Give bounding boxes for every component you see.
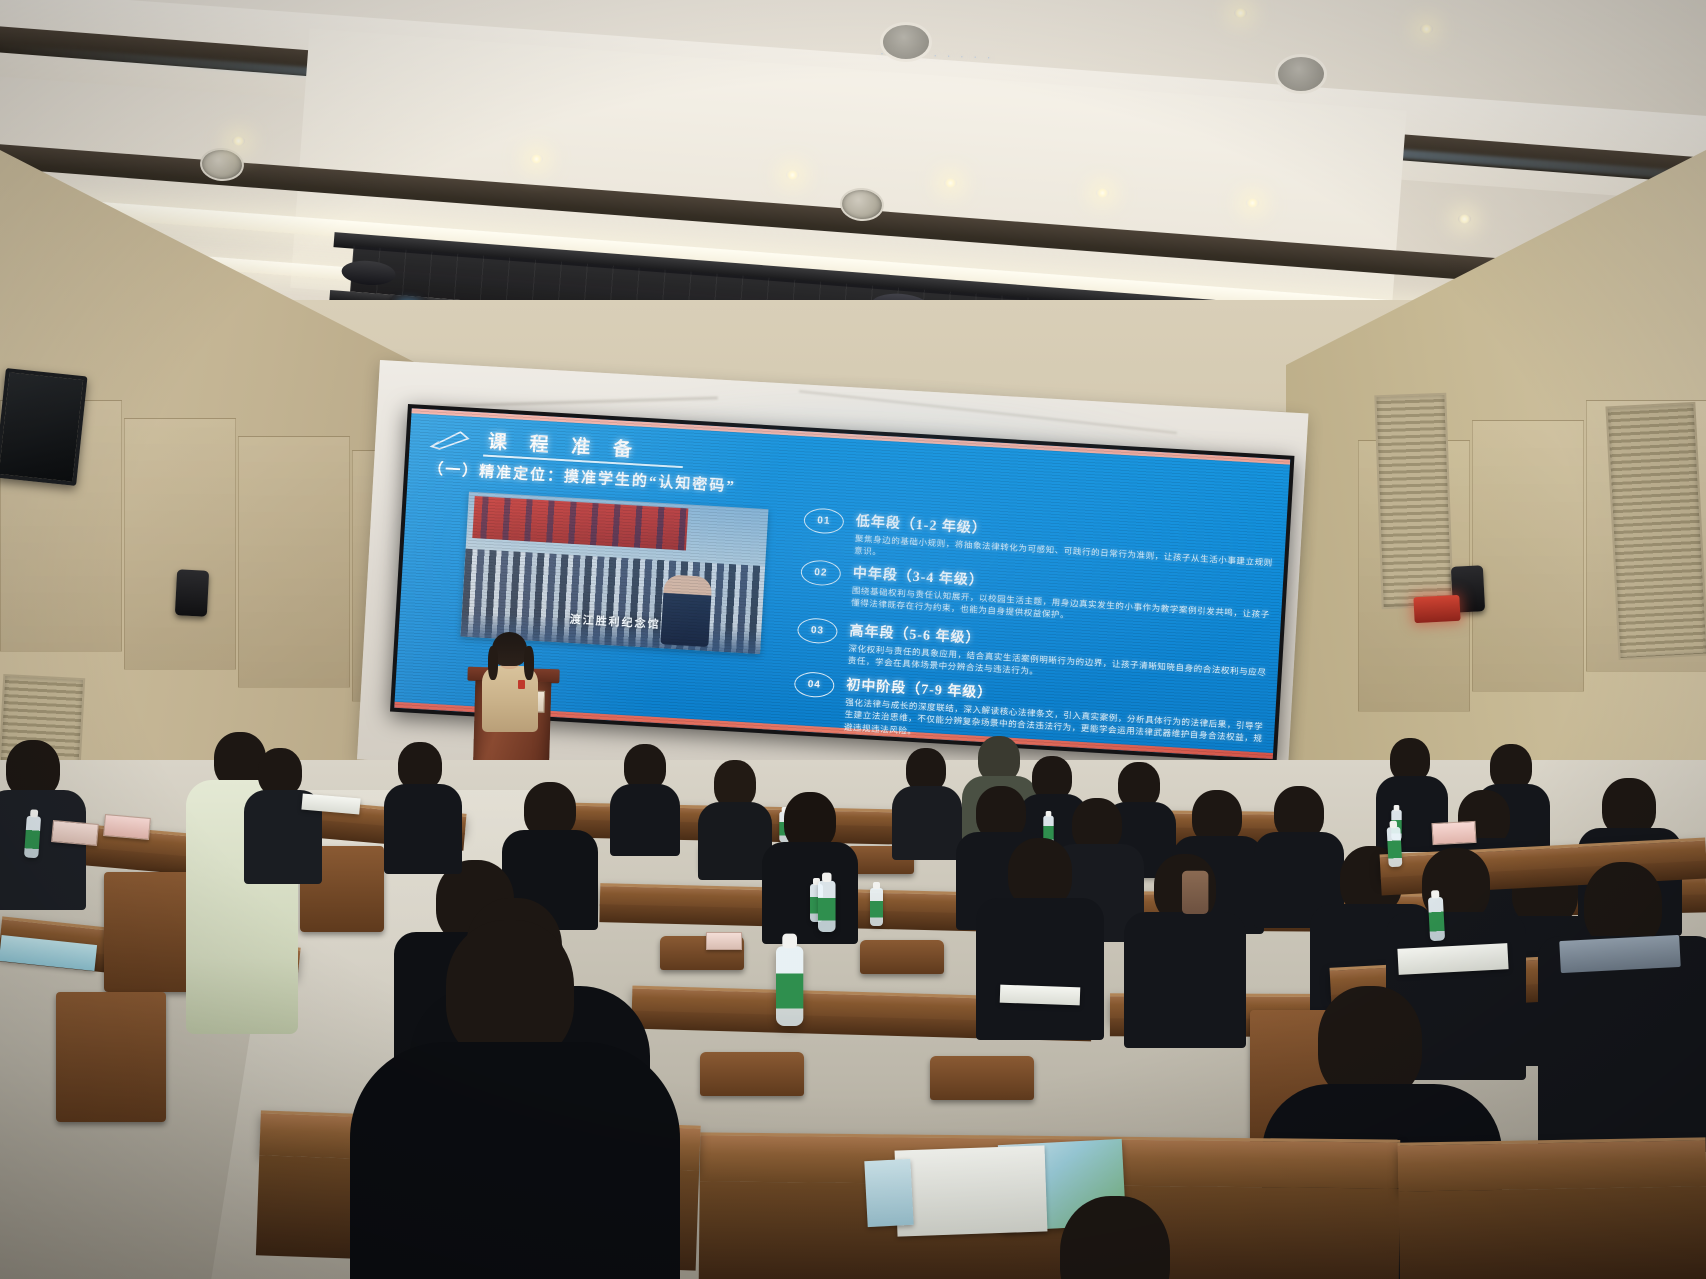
photo-red-banner: [472, 496, 688, 550]
conference-chair-r3a: [700, 1052, 804, 1096]
water-bottle-right-2: [1428, 897, 1445, 941]
person-head: [714, 760, 756, 808]
conference-chair-left-2: [56, 992, 166, 1122]
booklet-spine-foreground: [864, 1159, 913, 1227]
person-torso: [384, 784, 462, 874]
pencil-icon: [429, 427, 478, 452]
ceiling-downlight-1: [232, 136, 245, 146]
desk-front: [1398, 1186, 1706, 1279]
slide-photo: 渡江胜利纪念馆: [461, 492, 769, 654]
water-bottle-foreground: [776, 946, 803, 1026]
name-card-left: [51, 820, 99, 846]
person-torso: [892, 786, 962, 860]
thermos-cup-r3: [1182, 871, 1208, 914]
ceiling-downlight-6: [1246, 198, 1259, 208]
name-card-r2: [706, 932, 742, 950]
paper-sheet-r3: [1000, 985, 1081, 1006]
left-side-monitor: [0, 368, 88, 486]
person-torso: [976, 898, 1104, 1040]
presenter-hair-right: [524, 646, 534, 680]
ceiling-recess-1: [880, 22, 932, 62]
device-lid-right: [1559, 935, 1681, 973]
ceiling-downlight-9: [1420, 24, 1433, 34]
ceiling-downlight-4: [944, 178, 957, 188]
ceiling-downlight-8: [1234, 8, 1247, 18]
person-torso: [350, 1042, 680, 1279]
person-torso: [698, 802, 772, 880]
name-card-left-2: [103, 814, 151, 840]
slide-item-number-01: 01: [803, 507, 844, 534]
ceiling-downlight-7: [1458, 214, 1471, 224]
slide-item-number-04: 04: [794, 671, 835, 698]
left-wall-panel-2: [124, 418, 236, 670]
conference-chair-r3b: [930, 1056, 1034, 1100]
water-bottle-r3a: [818, 881, 836, 932]
water-bottle-right-1: [1387, 827, 1403, 868]
ceiling-downlight-3: [786, 170, 799, 180]
conference-chair-r2b: [860, 940, 944, 974]
exit-indicator: [1413, 595, 1460, 623]
photo-foreground-person: [660, 574, 712, 647]
presenter: [478, 636, 542, 732]
slide-item-number-03: 03: [797, 617, 838, 644]
name-card-right: [1431, 821, 1476, 845]
person-head: [446, 920, 574, 1062]
right-wall-grille-2: [1605, 402, 1706, 660]
ceiling-recess-2: [1275, 54, 1327, 94]
foreground-desk-right: [1398, 1137, 1706, 1191]
water-bottle-r2b: [870, 888, 883, 926]
person-head: [398, 742, 442, 790]
person-head: [1318, 986, 1422, 1100]
slide-item-number-02: 02: [800, 559, 841, 586]
slide-subtitle: （一）精准定位：摸准学生的“认知密码”: [428, 457, 737, 496]
person-torso: [0, 790, 86, 910]
right-wall-grille-1: [1374, 393, 1453, 609]
left-wall-speaker: [175, 569, 209, 617]
presenter-hair-left: [488, 646, 498, 680]
screenshot-root: · · · · · · · · ·: [0, 0, 1706, 1279]
paper-sheet-foreground: [895, 1145, 1048, 1236]
water-bottle-left: [24, 816, 41, 859]
person-head: [258, 748, 302, 796]
left-wall-panel-3: [238, 436, 350, 688]
person-torso: [610, 784, 680, 856]
person-torso: [1124, 912, 1246, 1048]
conference-chair-left-1: [104, 872, 196, 992]
ceiling-downlight-5: [1096, 188, 1109, 198]
presenter-badge: [518, 680, 525, 689]
right-wall-panel-2: [1472, 420, 1584, 692]
ceiling-downlight-2: [530, 154, 543, 164]
